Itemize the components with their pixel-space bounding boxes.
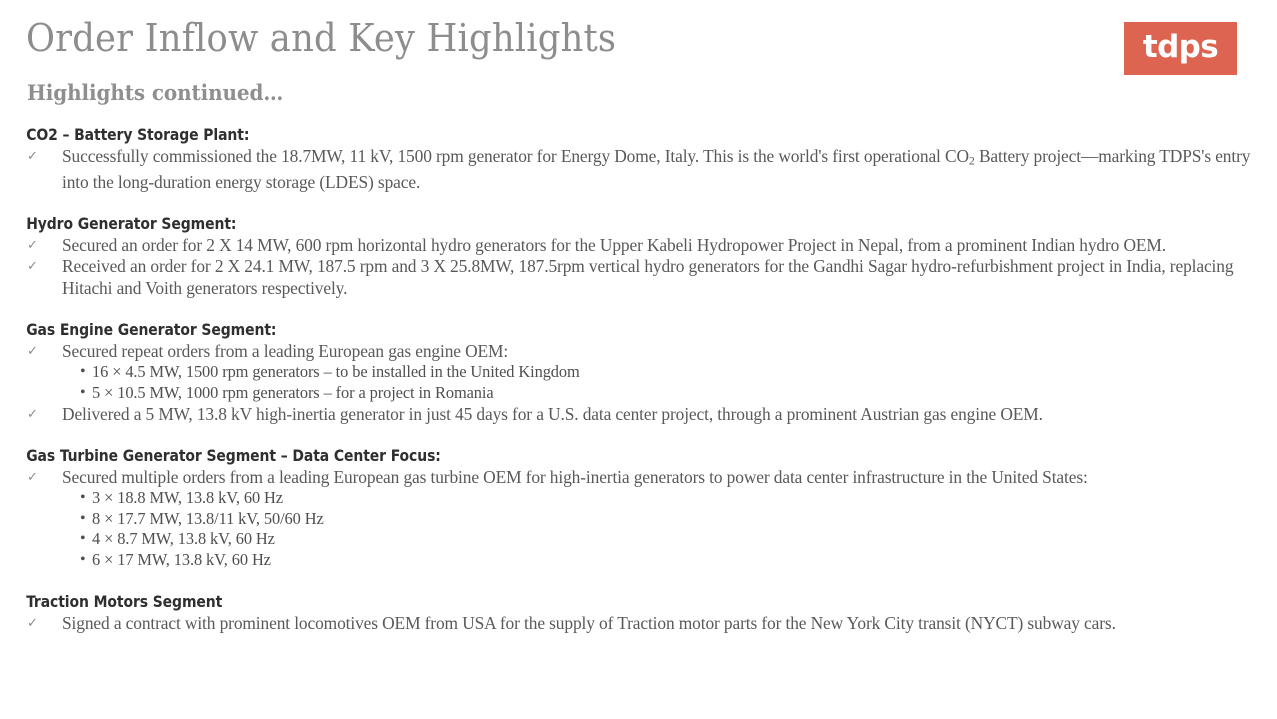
section-heading: Gas Engine Generator Segment: <box>0 320 1239 339</box>
bullet-text: Received an order for 2 X 24.1 MW, 187.5… <box>62 256 1233 297</box>
bullet-item: ✓Secured multiple orders from a leading … <box>0 467 1277 488</box>
sub-bullet-text: 4 × 8.7 MW, 13.8 kV, 60 Hz <box>92 529 275 548</box>
check-icon: ✓ <box>27 405 38 425</box>
bullet-text: Signed a contract with prominent locomot… <box>62 613 1116 633</box>
bullet-item: ✓Signed a contract with prominent locomo… <box>0 613 1277 634</box>
sub-bullet-item: •16 × 4.5 MW, 1500 rpm generators – to b… <box>0 362 1277 383</box>
bullet-item: ✓Received an order for 2 X 24.1 MW, 187.… <box>0 256 1277 299</box>
highlight-section: Gas Turbine Generator Segment – Data Cen… <box>0 446 1277 571</box>
highlight-section: Gas Engine Generator Segment:✓Secured re… <box>0 320 1277 425</box>
check-icon: ✓ <box>27 468 38 488</box>
bullet-dot-icon: • <box>80 509 86 530</box>
registered-trademark-icon: ® <box>1237 20 1246 29</box>
section-heading: Hydro Generator Segment: <box>0 214 1239 233</box>
bullet-dot-icon: • <box>80 488 86 509</box>
bullet-text: Secured repeat orders from a leading Eur… <box>62 341 508 361</box>
section-spacer <box>0 299 1277 320</box>
bullet-text: Delivered a 5 MW, 13.8 kV high-inertia g… <box>62 404 1043 424</box>
sub-bullet-text: 16 × 4.5 MW, 1500 rpm generators – to be… <box>92 362 580 381</box>
page-title: Order Inflow and Key Highlights <box>26 16 616 60</box>
page-subtitle: Highlights continued… <box>27 80 283 105</box>
highlight-section: Traction Motors Segment✓Signed a contrac… <box>0 592 1277 634</box>
tdps-logo: tdps ® <box>1124 22 1237 75</box>
bullet-dot-icon: • <box>80 529 86 550</box>
highlight-section: CO2 – Battery Storage Plant:✓Successfull… <box>0 125 1277 193</box>
logo-wordmark: tdps <box>1143 32 1218 63</box>
sub-bullet-text: 8 × 17.7 MW, 13.8/11 kV, 50/60 Hz <box>92 509 324 528</box>
section-spacer <box>0 571 1277 592</box>
sub-bullet-text: 3 × 18.8 MW, 13.8 kV, 60 Hz <box>92 488 283 507</box>
section-spacer <box>0 193 1277 214</box>
bullet-text: Secured an order for 2 X 14 MW, 600 rpm … <box>62 235 1166 255</box>
check-icon: ✓ <box>27 342 38 362</box>
bullet-item: ✓Secured an order for 2 X 14 MW, 600 rpm… <box>0 235 1277 256</box>
bullet-text: Secured multiple orders from a leading E… <box>62 467 1088 487</box>
section-spacer <box>0 425 1277 446</box>
sub-bullet-item: •8 × 17.7 MW, 13.8/11 kV, 50/60 Hz <box>0 509 1277 530</box>
check-icon: ✓ <box>27 614 38 634</box>
sub-bullet-item: •6 × 17 MW, 13.8 kV, 60 Hz <box>0 550 1277 571</box>
sub-bullet-list: •3 × 18.8 MW, 13.8 kV, 60 Hz•8 × 17.7 MW… <box>0 488 1277 570</box>
bullet-dot-icon: • <box>80 550 86 571</box>
bullet-dot-icon: • <box>80 383 86 404</box>
check-icon: ✓ <box>27 147 38 167</box>
highlight-section: Hydro Generator Segment:✓Secured an orde… <box>0 214 1277 299</box>
check-icon: ✓ <box>27 257 38 277</box>
bullet-text: Successfully commissioned the 18.7MW, 11… <box>62 146 1250 192</box>
bullet-item: ✓Successfully commissioned the 18.7MW, 1… <box>0 146 1277 193</box>
bullet-item: ✓Delivered a 5 MW, 13.8 kV high-inertia … <box>0 404 1277 425</box>
highlights-body: CO2 – Battery Storage Plant:✓Successfull… <box>0 125 1277 634</box>
sub-bullet-item: •3 × 18.8 MW, 13.8 kV, 60 Hz <box>0 488 1277 509</box>
bullet-dot-icon: • <box>80 362 86 383</box>
section-heading: Gas Turbine Generator Segment – Data Cen… <box>0 446 1239 465</box>
section-heading: Traction Motors Segment <box>0 592 1239 611</box>
section-heading: CO2 – Battery Storage Plant: <box>0 125 1239 144</box>
bullet-item: ✓Secured repeat orders from a leading Eu… <box>0 341 1277 362</box>
sub-bullet-list: •16 × 4.5 MW, 1500 rpm generators – to b… <box>0 362 1277 403</box>
sub-bullet-text: 5 × 10.5 MW, 1000 rpm generators – for a… <box>92 383 494 402</box>
sub-bullet-text: 6 × 17 MW, 13.8 kV, 60 Hz <box>92 550 271 569</box>
sub-bullet-item: •5 × 10.5 MW, 1000 rpm generators – for … <box>0 383 1277 404</box>
check-icon: ✓ <box>27 236 38 256</box>
sub-bullet-item: •4 × 8.7 MW, 13.8 kV, 60 Hz <box>0 529 1277 550</box>
